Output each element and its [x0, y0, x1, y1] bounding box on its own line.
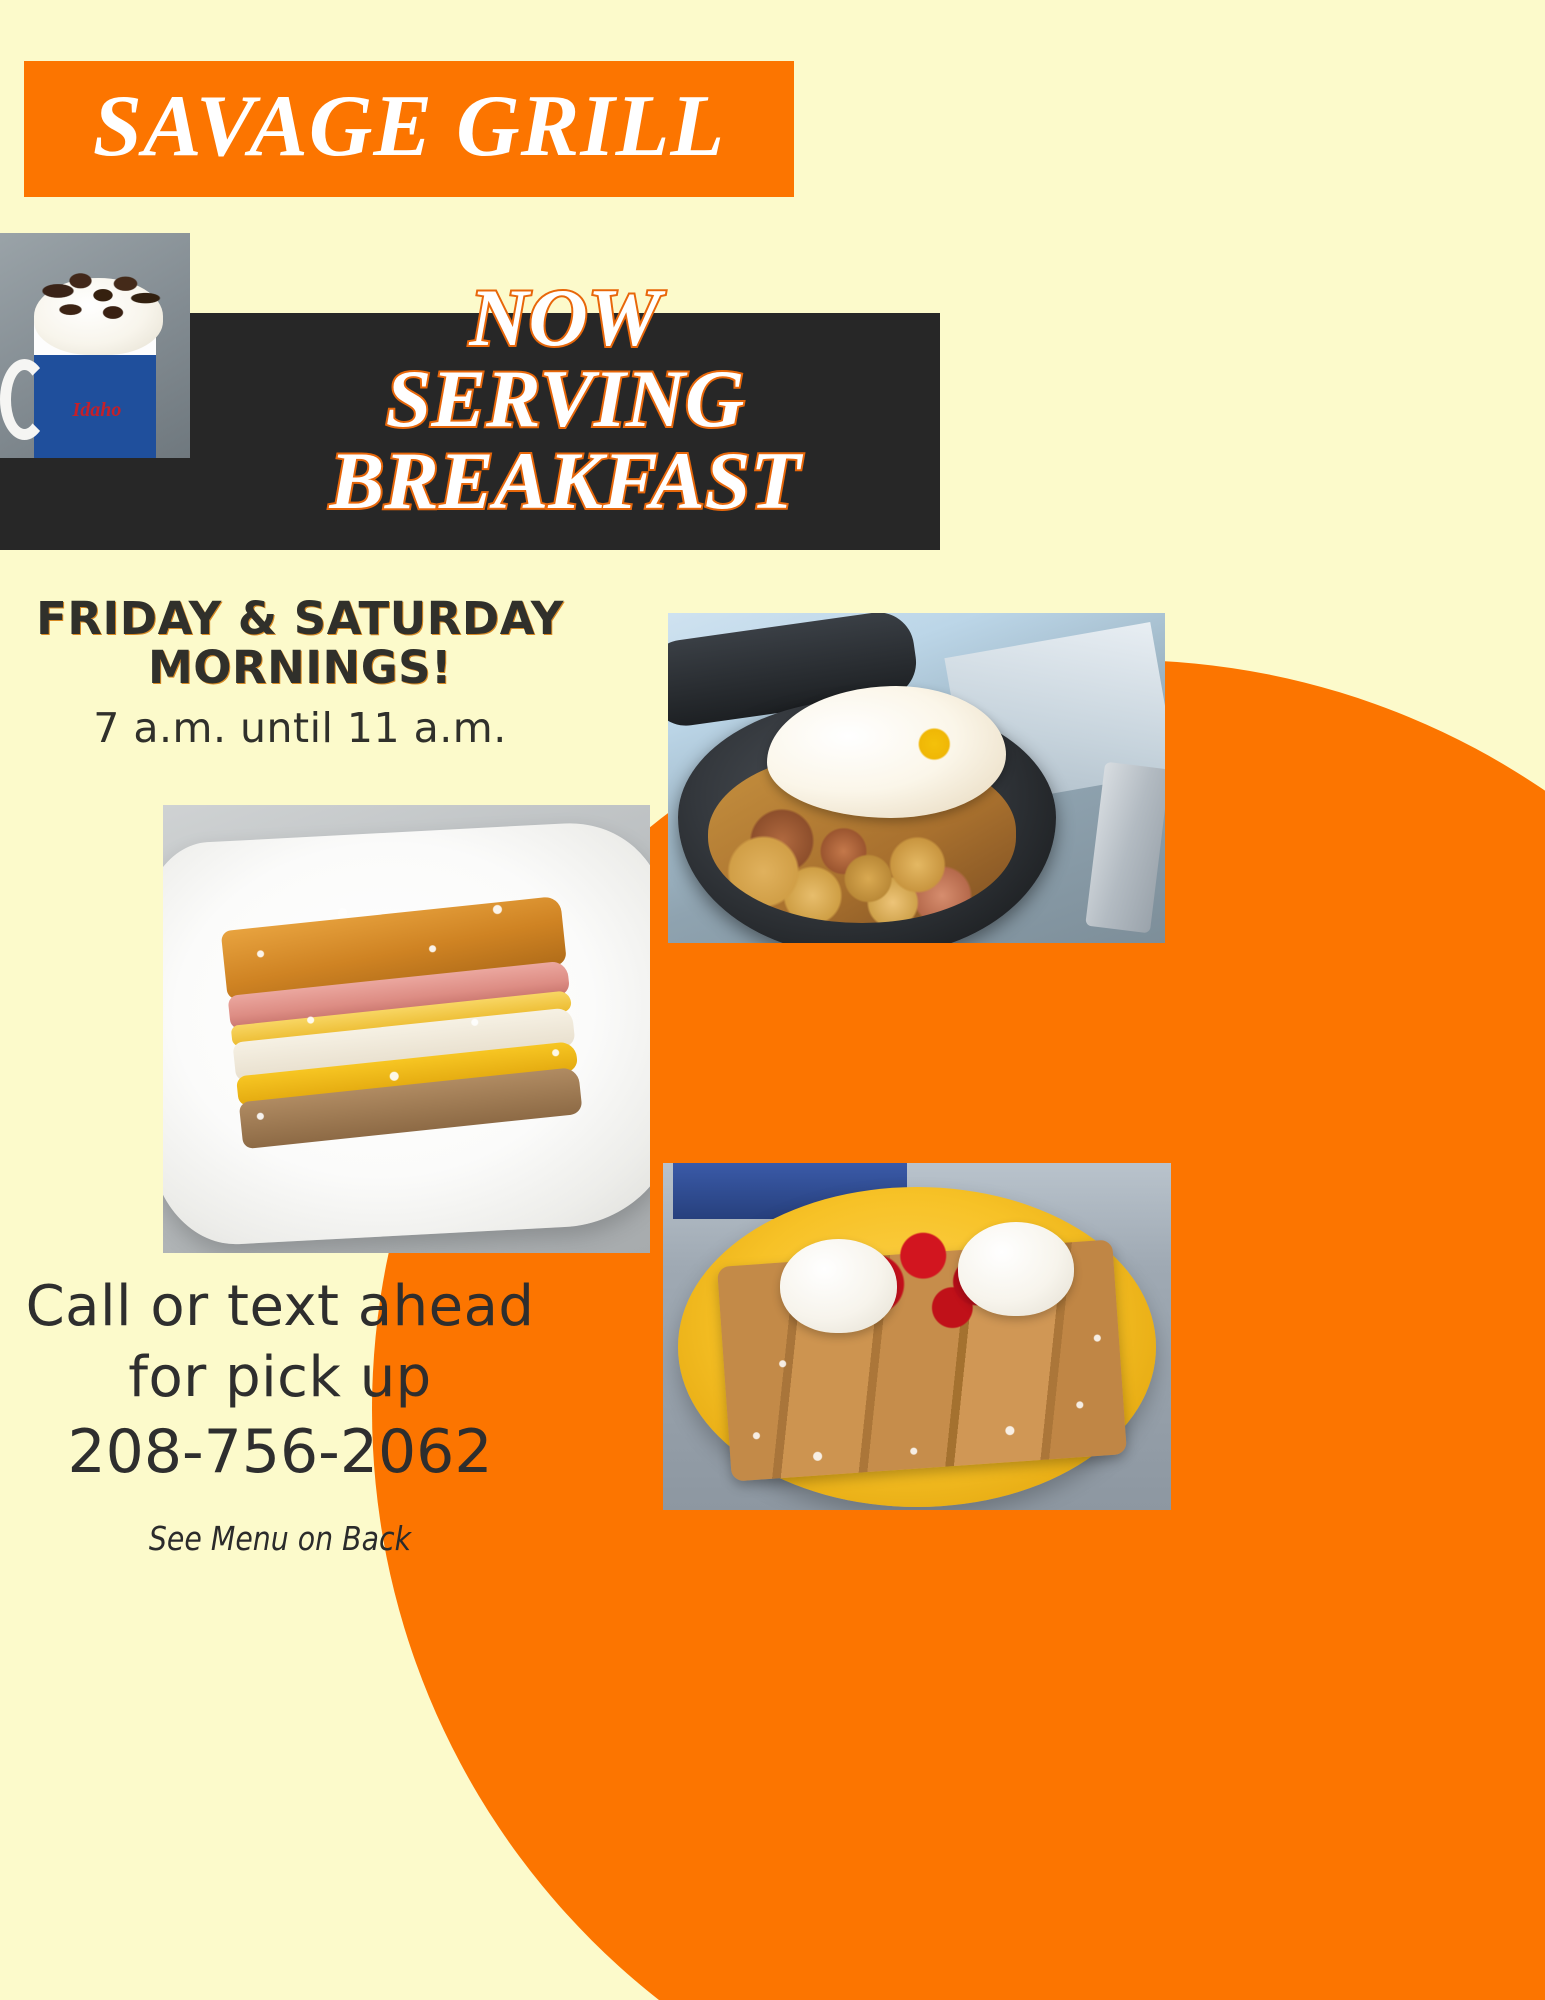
mug-idaho-label: Idaho	[57, 400, 137, 436]
title-bar: SAVAGE GRILL	[24, 61, 794, 197]
contact-line-1: Call or text ahead	[0, 1272, 560, 1343]
schedule-block: FRIDAY & SATURDAY MORNINGS! 7 a.m. until…	[0, 595, 600, 751]
schedule-hours: 7 a.m. until 11 a.m.	[0, 706, 600, 751]
monte-powdered-sugar-shape	[177, 846, 637, 1212]
monte-cristo-sandwich-photo	[163, 805, 650, 1253]
contact-phone[interactable]: 208-756-2062	[0, 1413, 560, 1491]
contact-line-2: for pick up	[0, 1343, 560, 1414]
banner-line-serving: SERVING	[386, 358, 745, 439]
breakfast-skillet-photo	[668, 613, 1165, 943]
schedule-days-line-2: MORNINGS!	[0, 644, 600, 693]
mug-handle-shape	[0, 359, 49, 440]
see-menu-on-back: See Menu on Back	[39, 1519, 521, 1558]
chocolate-shavings-shape	[38, 265, 163, 337]
banner-line-breakfast: BREAKFAST	[329, 440, 800, 521]
contact-block: Call or text ahead for pick up 208-756-2…	[0, 1272, 560, 1558]
breakfast-flyer: SAVAGE GRILL Idaho NOW SERVING BREAKFAST…	[0, 0, 1545, 2000]
banner-text-group: NOW SERVING BREAKFAST	[190, 248, 940, 550]
banner-line-now: NOW	[469, 277, 660, 358]
schedule-days-line-1: FRIDAY & SATURDAY	[0, 595, 600, 644]
french-toast-powdered-sugar	[704, 1225, 1141, 1482]
restaurant-title: SAVAGE GRILL	[93, 83, 725, 171]
cherry-french-toast-photo	[663, 1163, 1171, 1510]
hot-chocolate-mug-photo: Idaho	[0, 233, 190, 458]
